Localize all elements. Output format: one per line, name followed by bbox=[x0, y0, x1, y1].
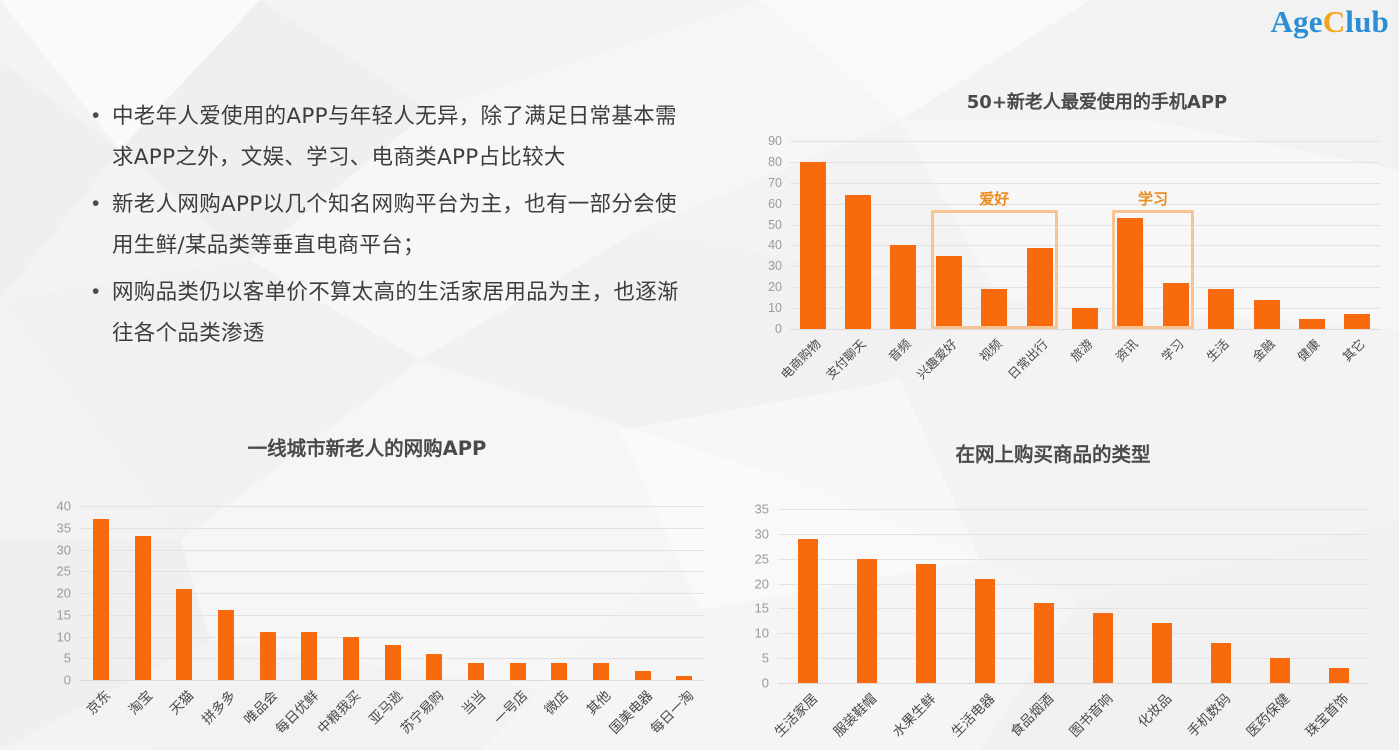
y-axis-tick: 30 bbox=[719, 526, 769, 541]
chart-shopapp-title: 一线城市新老人的网购APP bbox=[22, 432, 712, 461]
y-axis-tick: 50 bbox=[738, 218, 782, 232]
y-axis-tick: 40 bbox=[21, 499, 71, 514]
chart-goods-title: 在网上购买商品的类型 bbox=[718, 438, 1388, 467]
bar bbox=[1299, 319, 1325, 329]
y-axis-tick: 60 bbox=[738, 197, 782, 211]
gridline bbox=[80, 506, 705, 507]
bar bbox=[385, 645, 401, 680]
y-axis-tick: 0 bbox=[719, 676, 769, 691]
bar bbox=[676, 676, 692, 680]
bar bbox=[1211, 643, 1231, 683]
gridline bbox=[80, 571, 705, 572]
y-axis-tick: 20 bbox=[738, 280, 782, 294]
bar bbox=[1027, 248, 1053, 329]
bar bbox=[260, 632, 276, 680]
bar bbox=[468, 663, 484, 680]
chart-goods-plot: 05101520253035生活家居服装鞋帽水果生鲜生活电器食品烟酒图书音响化妆… bbox=[778, 509, 1368, 683]
bar bbox=[635, 671, 651, 680]
x-axis-label: 京东 bbox=[81, 685, 114, 718]
y-axis-tick: 35 bbox=[21, 520, 71, 535]
x-axis-label: 旅游 bbox=[1065, 334, 1096, 365]
y-axis-tick: 20 bbox=[719, 576, 769, 591]
x-axis-label: 苏宁易购 bbox=[395, 685, 447, 737]
x-axis-label: 图书音响 bbox=[1063, 688, 1115, 740]
gridline bbox=[80, 550, 705, 551]
x-axis-label: 资讯 bbox=[1111, 334, 1142, 365]
x-axis-label: 医药保健 bbox=[1240, 688, 1292, 740]
logo-c: C bbox=[1323, 4, 1346, 39]
y-axis-tick: 10 bbox=[21, 629, 71, 644]
chart-apps-plot: 0102030405060708090电商购物支付聊天音频兴趣爱好视频日常出行旅… bbox=[790, 141, 1380, 329]
chart-shopapp-plot: 0510152025303540京东淘宝天猫拼多多唯品会每日优鲜中粮我买亚马逊苏… bbox=[80, 506, 705, 680]
gridline bbox=[790, 245, 1380, 246]
gridline bbox=[790, 329, 1380, 330]
bullet-text: 中老年人爱使用的APP与年轻人无异，除了满足日常基本需求APP之外，文娱、学习、… bbox=[112, 96, 686, 178]
bar bbox=[975, 579, 995, 683]
bar bbox=[1093, 613, 1113, 683]
bar bbox=[916, 564, 936, 683]
bar bbox=[1270, 658, 1290, 683]
y-axis-tick: 15 bbox=[719, 601, 769, 616]
x-axis-label: 食品烟酒 bbox=[1004, 688, 1056, 740]
x-axis-label: 淘宝 bbox=[122, 685, 155, 718]
y-axis-tick: 0 bbox=[21, 673, 71, 688]
slide-canvas: AgeClub • 中老年人爱使用的APP与年轻人无异，除了满足日常基本需求AP… bbox=[0, 0, 1399, 750]
x-axis-label: 学习 bbox=[1156, 334, 1187, 365]
bullet-item: •新老人网购APP以几个知名网购平台为主，也有一部分会使用生鲜/某品类等垂直电商… bbox=[86, 184, 686, 266]
bullet-marker-icon: • bbox=[86, 96, 112, 136]
bullet-item: •网购品类仍以客单价不算太高的生活家居用品为主，也逐渐往各个品类渗透 bbox=[86, 272, 686, 354]
bullet-item: • 中老年人爱使用的APP与年轻人无异，除了满足日常基本需求APP之外，文娱、学… bbox=[86, 96, 686, 178]
gridline bbox=[778, 509, 1368, 510]
y-axis-tick: 90 bbox=[738, 134, 782, 148]
bullet-text: 新老人网购APP以几个知名网购平台为主，也有一部分会使用生鲜/某品类等垂直电商平… bbox=[112, 184, 686, 266]
bar bbox=[593, 663, 609, 680]
bar bbox=[426, 654, 442, 680]
chart-apps-title: 50+新老人最爱使用的手机APP bbox=[802, 88, 1392, 114]
y-axis-tick: 35 bbox=[719, 502, 769, 517]
x-axis-label: 国美电器 bbox=[603, 685, 655, 737]
gridline bbox=[80, 615, 705, 616]
highlight-label: 学习 bbox=[1138, 188, 1168, 209]
chart-shopapp: 一线城市新老人的网购APP 0510152025303540京东淘宝天猫拼多多唯… bbox=[22, 432, 712, 742]
bar bbox=[1072, 308, 1098, 329]
x-axis-label: 每日一淘 bbox=[645, 685, 697, 737]
bar bbox=[798, 539, 818, 683]
highlight-label: 爱好 bbox=[979, 188, 1009, 209]
x-axis-label: 生活家居 bbox=[768, 688, 820, 740]
x-axis-label: 视频 bbox=[975, 334, 1006, 365]
x-axis-label: 天猫 bbox=[164, 685, 197, 718]
chart-apps: 50+新老人最爱使用的手机APP 0102030405060708090电商购物… bbox=[742, 88, 1392, 388]
y-axis-tick: 0 bbox=[738, 322, 782, 336]
bar bbox=[218, 610, 234, 680]
bullet-list: • 中老年人爱使用的APP与年轻人无异，除了满足日常基本需求APP之外，文娱、学… bbox=[86, 96, 686, 360]
x-axis-label: 金融 bbox=[1247, 334, 1278, 365]
gridline bbox=[790, 287, 1380, 288]
y-axis-tick: 10 bbox=[719, 626, 769, 641]
gridline bbox=[80, 593, 705, 594]
gridline bbox=[790, 266, 1380, 267]
x-axis-label: 健康 bbox=[1292, 334, 1323, 365]
bar bbox=[1344, 314, 1370, 329]
x-axis-label: 每日优鲜 bbox=[270, 685, 322, 737]
bullet-marker-icon: • bbox=[86, 272, 112, 312]
x-axis-label: 日常出行 bbox=[1002, 334, 1051, 383]
gridline bbox=[790, 162, 1380, 163]
x-axis-label: 微店 bbox=[539, 685, 572, 718]
x-axis-label: 珠宝首饰 bbox=[1299, 688, 1351, 740]
bar bbox=[301, 632, 317, 680]
bullet-text: 网购品类仍以客单价不算太高的生活家居用品为主，也逐渐往各个品类渗透 bbox=[112, 272, 686, 354]
gridline bbox=[80, 528, 705, 529]
bar bbox=[1208, 289, 1234, 329]
x-axis-label: 电商购物 bbox=[775, 334, 824, 383]
bar bbox=[981, 289, 1007, 329]
brand-logo: AgeClub bbox=[1270, 6, 1389, 37]
x-axis-label: 兴趣爱好 bbox=[911, 334, 960, 383]
bar bbox=[1117, 218, 1143, 329]
y-axis-tick: 30 bbox=[738, 259, 782, 273]
gridline bbox=[80, 637, 705, 638]
x-axis-label: 一号店 bbox=[488, 685, 531, 728]
x-axis-label: 拼多多 bbox=[196, 685, 239, 728]
bar bbox=[510, 663, 526, 680]
y-axis-tick: 25 bbox=[719, 551, 769, 566]
gridline bbox=[790, 141, 1380, 142]
bar bbox=[1254, 300, 1280, 329]
chart-goods: 在网上购买商品的类型 05101520253035生活家居服装鞋帽水果生鲜生活电… bbox=[718, 438, 1388, 748]
bar bbox=[936, 256, 962, 329]
logo-age: Age bbox=[1270, 4, 1322, 39]
x-axis-label: 中粮我买 bbox=[312, 685, 364, 737]
x-axis-label: 水果生鲜 bbox=[886, 688, 938, 740]
x-axis-label: 当当 bbox=[456, 685, 489, 718]
x-axis-label: 生活 bbox=[1201, 334, 1232, 365]
y-axis-tick: 20 bbox=[21, 586, 71, 601]
y-axis-tick: 80 bbox=[738, 155, 782, 169]
bar bbox=[135, 536, 151, 680]
y-axis-tick: 30 bbox=[21, 542, 71, 557]
x-axis-label: 其它 bbox=[1338, 334, 1369, 365]
x-axis-label: 音频 bbox=[884, 334, 915, 365]
y-axis-tick: 5 bbox=[21, 651, 71, 666]
x-axis-label: 支付聊天 bbox=[821, 334, 870, 383]
gridline bbox=[80, 680, 705, 681]
x-axis-label: 手机数码 bbox=[1181, 688, 1233, 740]
x-axis-label: 生活电器 bbox=[945, 688, 997, 740]
bar bbox=[1163, 283, 1189, 329]
gridline bbox=[790, 225, 1380, 226]
x-axis-label: 化妆品 bbox=[1132, 688, 1175, 731]
y-axis-tick: 10 bbox=[738, 301, 782, 315]
bar bbox=[1152, 623, 1172, 683]
bar bbox=[551, 663, 567, 680]
bar bbox=[800, 162, 826, 329]
y-axis-tick: 25 bbox=[21, 564, 71, 579]
x-axis-label: 其他 bbox=[581, 685, 614, 718]
bar bbox=[1034, 603, 1054, 683]
bar bbox=[1329, 668, 1349, 683]
bar bbox=[343, 637, 359, 681]
x-axis-label: 服装鞋帽 bbox=[827, 688, 879, 740]
y-axis-tick: 5 bbox=[719, 651, 769, 666]
bar bbox=[176, 589, 192, 680]
logo-lub: lub bbox=[1345, 4, 1389, 39]
y-axis-tick: 70 bbox=[738, 176, 782, 190]
gridline bbox=[790, 183, 1380, 184]
y-axis-tick: 15 bbox=[21, 607, 71, 622]
bar bbox=[890, 245, 916, 329]
gridline bbox=[778, 534, 1368, 535]
bar bbox=[845, 195, 871, 329]
bullet-marker-icon: • bbox=[86, 184, 112, 224]
bar bbox=[93, 519, 109, 680]
gridline bbox=[790, 204, 1380, 205]
bar bbox=[857, 559, 877, 683]
y-axis-tick: 40 bbox=[738, 238, 782, 252]
gridline bbox=[778, 683, 1368, 684]
